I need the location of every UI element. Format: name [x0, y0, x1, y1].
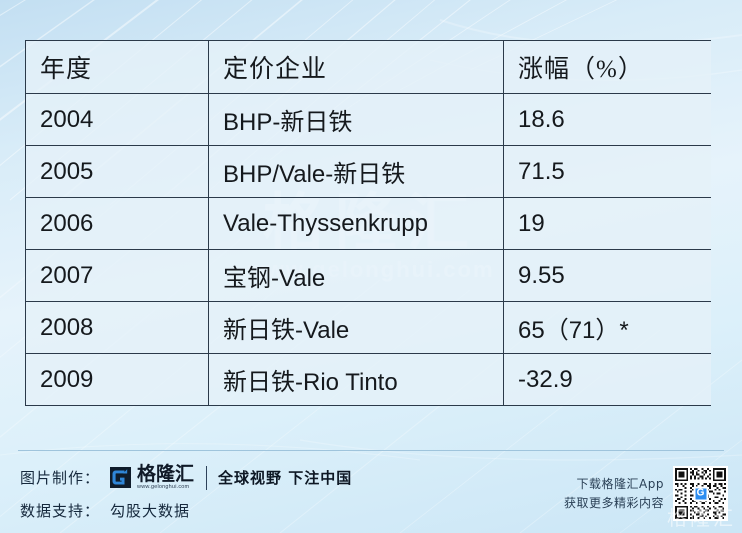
cell-company: BHP-新日铁	[209, 94, 504, 146]
cell-company: 宝钢-Vale	[209, 250, 504, 302]
app-promo-line-1: 下载格隆汇App	[564, 475, 664, 494]
cell-year: 2005	[26, 146, 209, 198]
cell-change: 71.5	[504, 146, 712, 198]
footer-data-row: 数据支持： 勾股大数据	[20, 494, 352, 527]
app-promo-line-2: 获取更多精彩内容	[564, 494, 664, 513]
iron-ore-pricing-table: 年度 定价企业 涨幅（%） 2004 BHP-新日铁 18.6 2005 BHP…	[25, 40, 711, 406]
table-row: 2007 宝钢-Vale 9.55	[26, 250, 712, 302]
credit-label: 图片制作：	[20, 467, 100, 488]
cell-change: 19	[504, 198, 712, 250]
footer-left-block: 图片制作： 格隆汇 www.gelonghui.com 全球视野 下注中国	[20, 461, 352, 527]
gelonghui-wordmark: 格隆汇 www.gelonghui.com	[137, 465, 194, 491]
column-header-year: 年度	[26, 41, 209, 94]
footer-right-block: 下载格隆汇App 获取更多精彩内容	[564, 466, 728, 521]
cell-company: BHP/Vale-新日铁	[209, 146, 504, 198]
table-header-row: 年度 定价企业 涨幅（%）	[26, 41, 712, 94]
brand-slogan: 全球视野 下注中国	[218, 467, 352, 488]
qr-center-logo-icon: G	[693, 486, 708, 501]
table-row: 2008 新日铁-Vale 65（71）*	[26, 302, 712, 354]
cell-year: 2007	[26, 250, 209, 302]
cell-change: 65（71）*	[504, 302, 712, 354]
cell-year: 2004	[26, 94, 209, 146]
logo-brand-url: www.gelonghui.com	[137, 485, 194, 491]
table-row: 2004 BHP-新日铁 18.6	[26, 94, 712, 146]
cell-company: 新日铁-Vale	[209, 302, 504, 354]
cell-year: 2009	[26, 354, 209, 406]
app-download-qr-code[interactable]: G	[673, 466, 728, 521]
cell-company: 新日铁-Rio Tinto	[209, 354, 504, 406]
logo-brand-cn: 格隆汇	[137, 465, 194, 484]
data-table-container: 年度 定价企业 涨幅（%） 2004 BHP-新日铁 18.6 2005 BHP…	[25, 40, 711, 406]
data-source-value: 勾股大数据	[110, 500, 190, 521]
footer-separator	[206, 466, 207, 490]
cell-year: 2006	[26, 198, 209, 250]
column-header-change: 涨幅（%）	[504, 41, 712, 94]
column-header-company: 定价企业	[209, 41, 504, 94]
cell-year: 2008	[26, 302, 209, 354]
cell-change: 18.6	[504, 94, 712, 146]
table-row: 2006 Vale-Thyssenkrupp 19	[26, 198, 712, 250]
gelonghui-g-mark-icon	[108, 465, 133, 490]
table-row: 2009 新日铁-Rio Tinto -32.9	[26, 354, 712, 406]
cell-change: -32.9	[504, 354, 712, 406]
cell-change: 9.55	[504, 250, 712, 302]
data-source-label: 数据支持：	[20, 500, 100, 521]
cell-company: Vale-Thyssenkrupp	[209, 198, 504, 250]
footer-credit-row: 图片制作： 格隆汇 www.gelonghui.com 全球视野 下注中国	[20, 461, 352, 494]
table-row: 2005 BHP/Vale-新日铁 71.5	[26, 146, 712, 198]
gelonghui-logo: 格隆汇 www.gelonghui.com	[108, 465, 194, 491]
footer-bar: 图片制作： 格隆汇 www.gelonghui.com 全球视野 下注中国	[0, 450, 742, 533]
app-download-promo: 下载格隆汇App 获取更多精彩内容	[564, 475, 664, 512]
footer-divider	[18, 450, 724, 451]
